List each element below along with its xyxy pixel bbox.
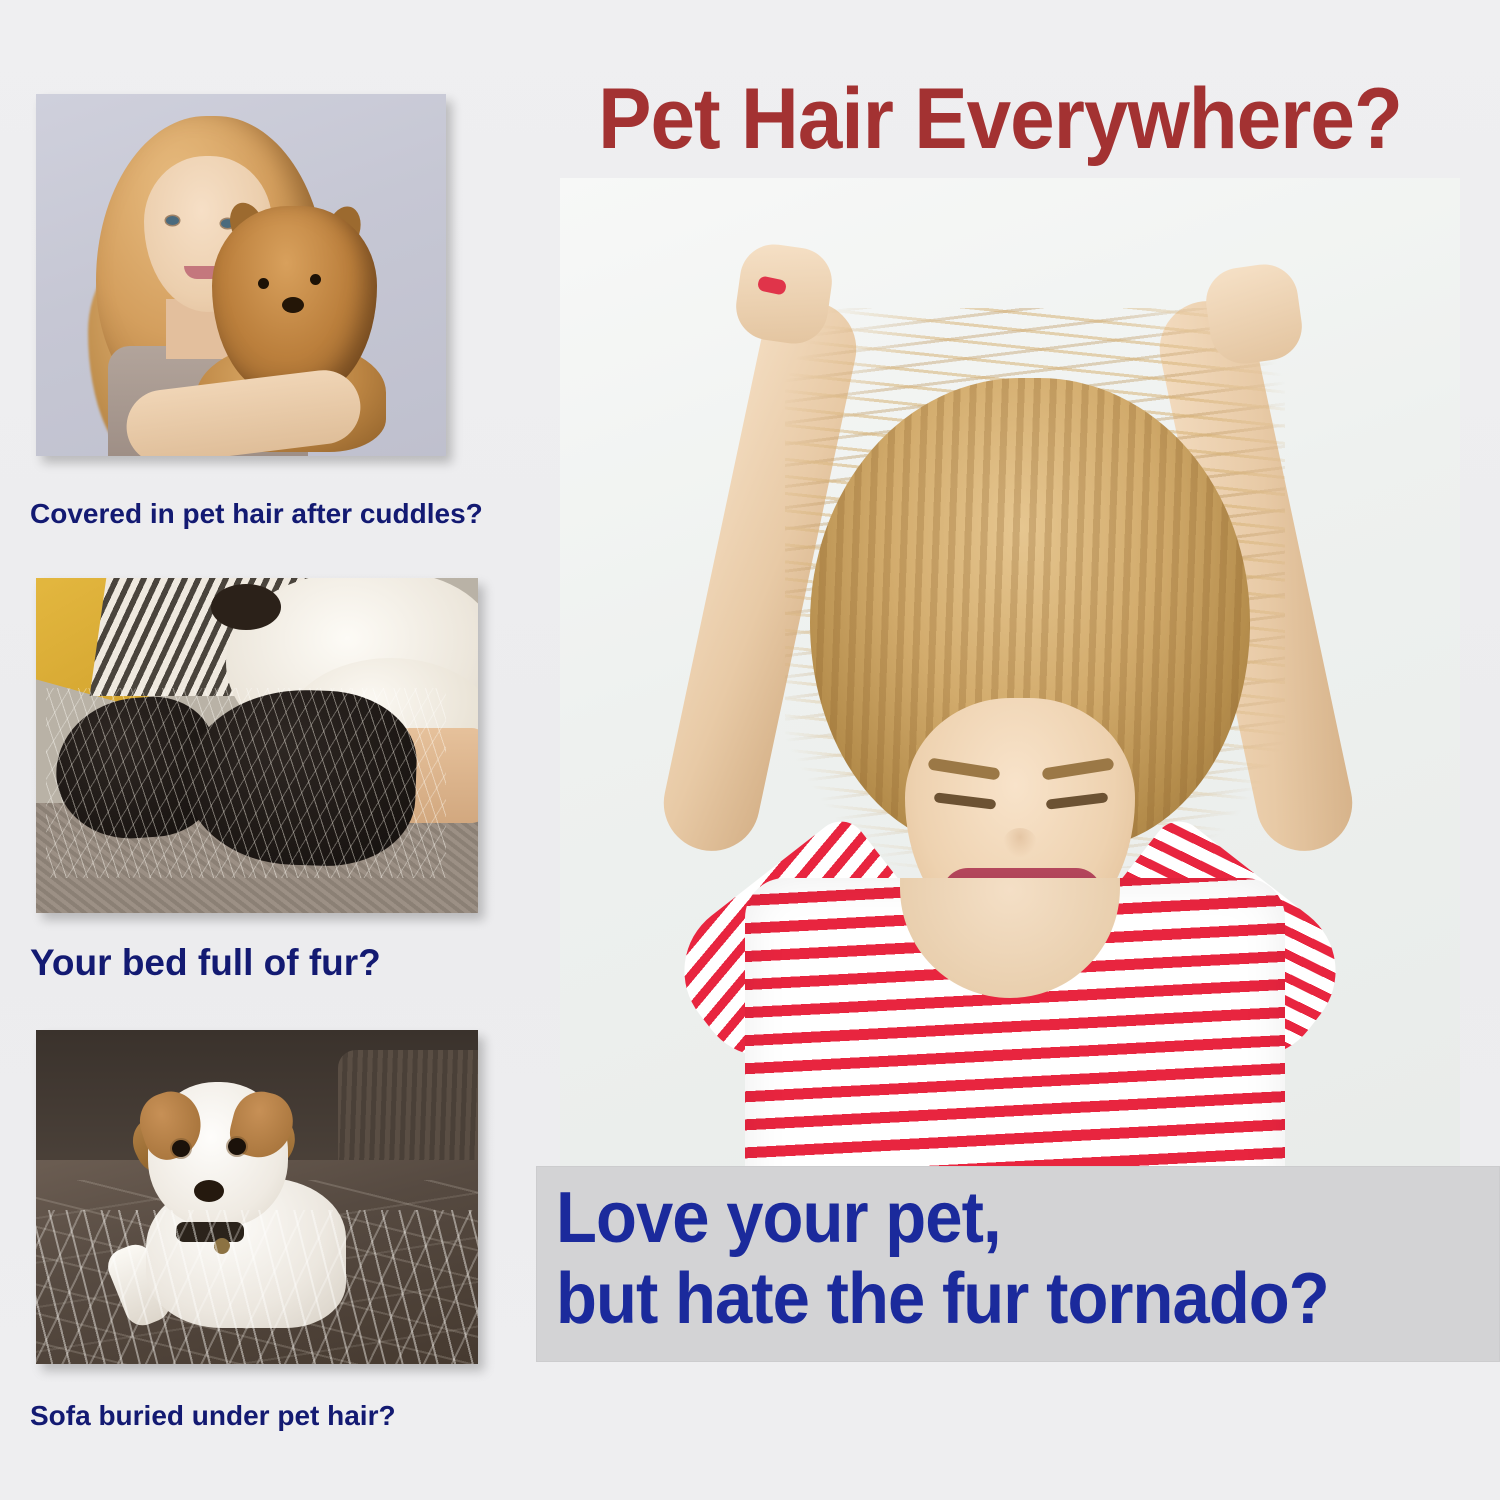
hero-image-frustrated-woman (560, 178, 1460, 1278)
yorkie-nose (282, 297, 304, 313)
shed-pet-hair-overlay (46, 688, 446, 878)
girl-hugging-yorkie-illustration (36, 94, 446, 456)
girl-left-eye (166, 216, 179, 225)
woman-nose (1003, 828, 1037, 858)
thumbnail-socks-covered-in-fur (36, 578, 478, 913)
page-title: Pet Hair Everywhere? (554, 76, 1447, 162)
shed-hair-on-sofa-overlay (36, 1210, 478, 1364)
yorkie-right-eye (310, 274, 321, 285)
caption-socks-covered-in-fur: Your bed full of fur? (30, 942, 381, 984)
caption-dog-on-sofa: Sofa buried under pet hair? (30, 1400, 396, 1432)
dog-on-sofa-illustration (36, 1030, 478, 1364)
dog-nose (194, 1180, 224, 1202)
yorkie-left-eye (258, 278, 269, 289)
socks-covered-in-fur-illustration (36, 578, 478, 913)
dog-left-eye (172, 1140, 190, 1157)
pet-dark-marking (211, 584, 281, 630)
caption-girl-hugging-yorkie: Covered in pet hair after cuddles? (30, 498, 483, 530)
dog-right-eye (228, 1138, 246, 1155)
thumbnail-girl-hugging-yorkie (36, 94, 446, 456)
bottom-banner-text: Love your pet, but hate the fur tornado? (556, 1178, 1430, 1339)
thumbnail-dog-on-sofa (36, 1030, 478, 1364)
poster-canvas: Pet Hair Everywhere? Covered in pet hair… (0, 0, 1500, 1500)
